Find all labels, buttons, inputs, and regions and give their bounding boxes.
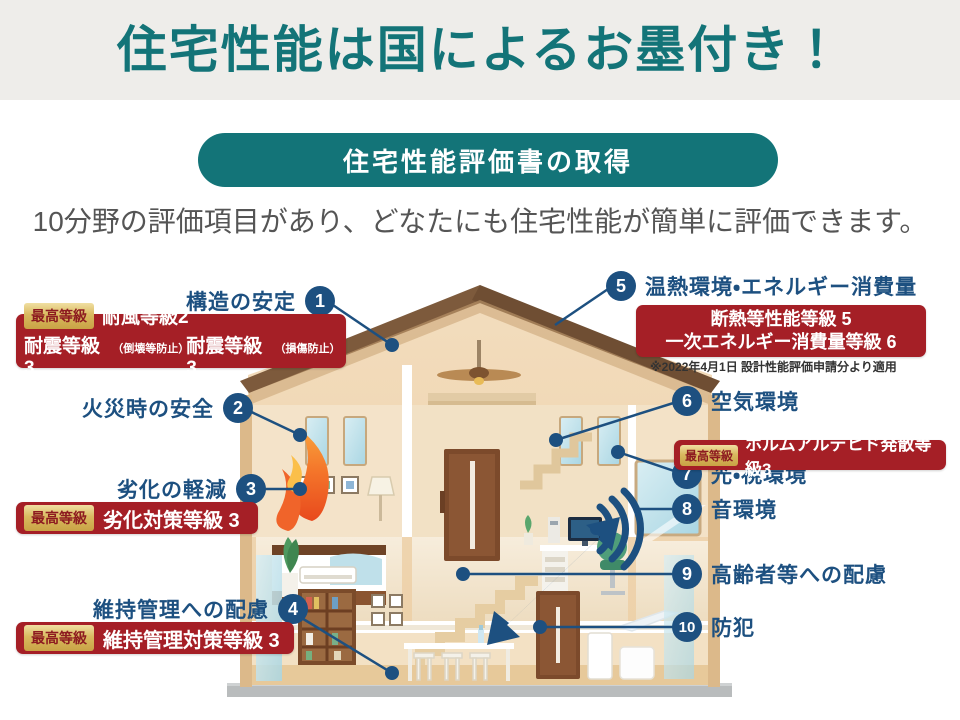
ceiling-beam: [428, 393, 536, 401]
item-1-number: 1: [305, 286, 335, 316]
gradebox-structure-seismic-b: 耐震等級 3: [186, 331, 274, 380]
gradebox-maintenance-text: 維持管理対策等級 3: [103, 624, 280, 653]
gradebox-thermal: 断熱等性能等級 5 一次エネルギー消費量等級 6: [636, 305, 926, 357]
thermal-note: ※2022年4月1日 設計性能評価申請分より適用: [650, 358, 897, 375]
gradebox-air-text: ホルムアルデヒド発散等級3: [745, 430, 940, 480]
item-5[interactable]: 5 温熱環境・エネルギー消費量: [606, 271, 917, 301]
item-4[interactable]: 維持管理への配慮 4: [93, 594, 308, 624]
item-4-label: 維持管理への配慮: [93, 594, 269, 624]
item-10-number: 10: [672, 612, 702, 642]
section-pill-label: 住宅性能評価書の取得: [343, 142, 633, 179]
item-1[interactable]: 構造の安定 1: [186, 286, 335, 316]
window-bedroom-2: [344, 417, 366, 465]
partition-upper: [402, 365, 412, 537]
badge-top-grade: 最高等級: [680, 445, 738, 466]
item-6[interactable]: 6 空気環境: [672, 386, 799, 416]
item-6-label: 空気環境: [711, 386, 799, 416]
item-2-number: 2: [223, 393, 253, 423]
gradebox-thermal-line1: 断熱等性能等級 5: [710, 308, 851, 331]
item-9-label: 高齢者等への配慮: [711, 559, 887, 589]
item-9[interactable]: 9 高齢者等への配慮: [672, 559, 887, 589]
gradebox-deterioration: 最高等級 劣化対策等級 3: [16, 502, 258, 534]
gradebox-structure-row1: 最高等級 耐風等級2: [24, 302, 189, 329]
gradebox-structure-seismic-a: 耐震等級 3: [24, 331, 112, 380]
item-2[interactable]: 火災時の安全 2: [82, 393, 253, 423]
dining-table: [404, 643, 514, 649]
window-study-2: [598, 417, 620, 465]
post-right: [708, 395, 720, 687]
item-3-label: 劣化の軽減: [117, 474, 227, 504]
item-10-label: 防犯: [711, 612, 755, 642]
gradebox-structure-seismic-a-note: （倒壊等防止）: [112, 340, 186, 356]
foundation-slab: [227, 685, 732, 697]
gradebox-maintenance: 最高等級 維持管理対策等級 3: [16, 622, 294, 654]
item-2-label: 火災時の安全: [82, 393, 214, 423]
badge-top-grade: 最高等級: [24, 625, 94, 651]
page-title: 住宅性能は国によるお墨付き！: [0, 18, 960, 82]
gradebox-structure-line1: 耐風等級2: [102, 302, 189, 329]
desk-top: [540, 545, 602, 551]
section-pill: 住宅性能評価書の取得: [198, 133, 778, 187]
gradebox-structure: 最高等級 耐風等級2 耐震等級 3 （倒壊等防止） 耐震等級 3 （損傷防止）: [16, 314, 346, 368]
item-8[interactable]: 8 音環境: [672, 494, 777, 524]
item-8-label: 音環境: [711, 494, 777, 524]
gradebox-thermal-line2: 一次エネルギー消費量等級 6: [665, 331, 896, 354]
badge-top-grade: 最高等級: [24, 303, 94, 329]
gradebox-air: 最高等級 ホルムアルデヒド発散等級3: [674, 440, 946, 470]
item-5-number: 5: [606, 271, 636, 301]
subtitle-text: 10分野の評価項目があり、どなたにも住宅性能が簡単に評価できます。: [0, 200, 960, 240]
item-3-number: 3: [236, 474, 266, 504]
item-6-number: 6: [672, 386, 702, 416]
badge-top-grade: 最高等級: [24, 505, 94, 531]
gradebox-structure-seismic-b-note: （損傷防止）: [275, 340, 338, 356]
item-1-label: 構造の安定: [186, 286, 296, 316]
item-10[interactable]: 10 防犯: [672, 612, 755, 642]
infographic-root: 住宅性能は国によるお墨付き！ 住宅性能評価書の取得 10分野の評価項目があり、ど…: [0, 0, 960, 720]
item-5-label: 温熱環境・エネルギー消費量: [645, 271, 917, 301]
bath-fixture: [588, 633, 612, 679]
gradebox-deterioration-text: 劣化対策等級 3: [103, 504, 240, 533]
item-8-number: 8: [672, 494, 702, 524]
item-9-number: 9: [672, 559, 702, 589]
item-3[interactable]: 劣化の軽減 3: [117, 474, 266, 504]
item-4-number: 4: [278, 594, 308, 624]
gradebox-structure-row2: 耐震等級 3 （倒壊等防止） 耐震等級 3 （損傷防止）: [24, 331, 338, 380]
toilet: [620, 647, 654, 679]
floor-lamp: [368, 477, 394, 495]
